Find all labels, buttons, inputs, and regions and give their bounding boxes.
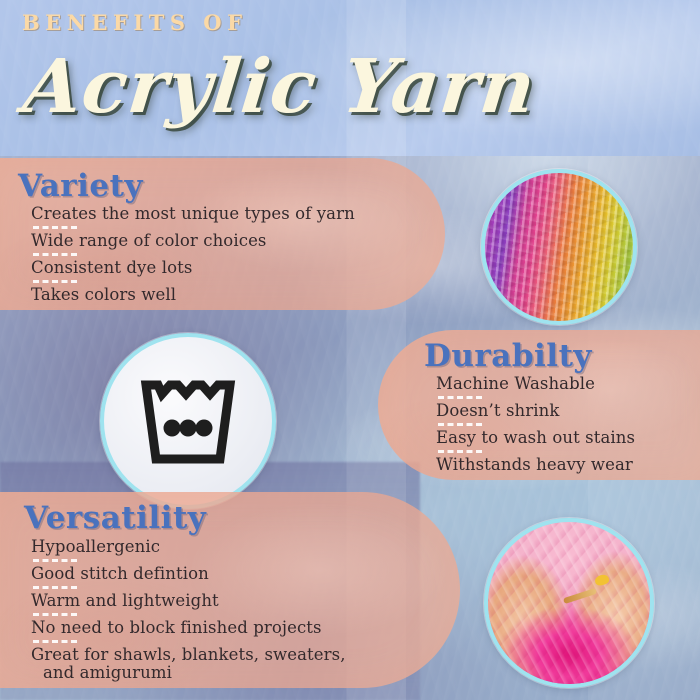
- dashed-separator: [438, 450, 482, 453]
- list-item: Consistent dye lots: [31, 259, 355, 277]
- list-item-continuation: and amigurumi: [31, 664, 346, 682]
- list-item-text: Great for shawls, blankets, sweaters,: [31, 645, 346, 664]
- list-item: Good stitch defintion: [31, 565, 346, 583]
- dashed-separator: [33, 586, 77, 589]
- list-item: Warm and lightweight: [31, 592, 346, 610]
- dashed-separator: [33, 253, 77, 256]
- header-kicker: BENEFITS OF: [22, 10, 248, 35]
- list-item: Doesn’t shrink: [436, 402, 635, 420]
- dashed-separator: [33, 226, 77, 229]
- list-item: No need to block finished projects: [31, 619, 346, 637]
- section-heading-durability: Durabilty: [424, 338, 592, 374]
- rainbow-yarn-skein-photo: [481, 169, 637, 325]
- section-list-variety: Creates the most unique types of yarn Wi…: [31, 205, 355, 304]
- yarn-photo-fuzz: [485, 173, 633, 321]
- dashed-separator: [33, 613, 77, 616]
- machine-wash-care-symbol-icon: [100, 333, 276, 509]
- list-item: Wide range of color choices: [31, 232, 355, 250]
- list-item: Hypoallergenic: [31, 538, 346, 556]
- dashed-separator: [33, 280, 77, 283]
- list-item: Takes colors well: [31, 286, 355, 304]
- list-item: Easy to wash out stains: [436, 429, 635, 447]
- section-list-durability: Machine Washable Doesn’t shrink Easy to …: [436, 375, 635, 474]
- section-heading-versatility: Versatility: [24, 500, 206, 536]
- wash-tub-icon: [136, 373, 240, 469]
- dashed-separator: [33, 640, 77, 643]
- hands-crocheting-pink-yarn-photo: [484, 518, 654, 688]
- list-item: Great for shawls, blankets, sweaters, an…: [31, 646, 346, 682]
- dashed-separator: [438, 396, 482, 399]
- list-item: Withstands heavy wear: [436, 456, 635, 474]
- dashed-separator: [438, 423, 482, 426]
- page-title: Acrylic Yarn: [20, 48, 540, 126]
- crochet-photo-stitch-texture: [488, 522, 650, 684]
- list-item: Machine Washable: [436, 375, 635, 393]
- section-list-versatility: Hypoallergenic Good stitch defintion War…: [31, 538, 346, 682]
- list-item: Creates the most unique types of yarn: [31, 205, 355, 223]
- dashed-separator: [33, 559, 77, 562]
- section-heading-variety: Variety: [18, 168, 143, 204]
- infographic-poster: BENEFITS OF Acrylic Yarn Variety Creates…: [0, 0, 700, 700]
